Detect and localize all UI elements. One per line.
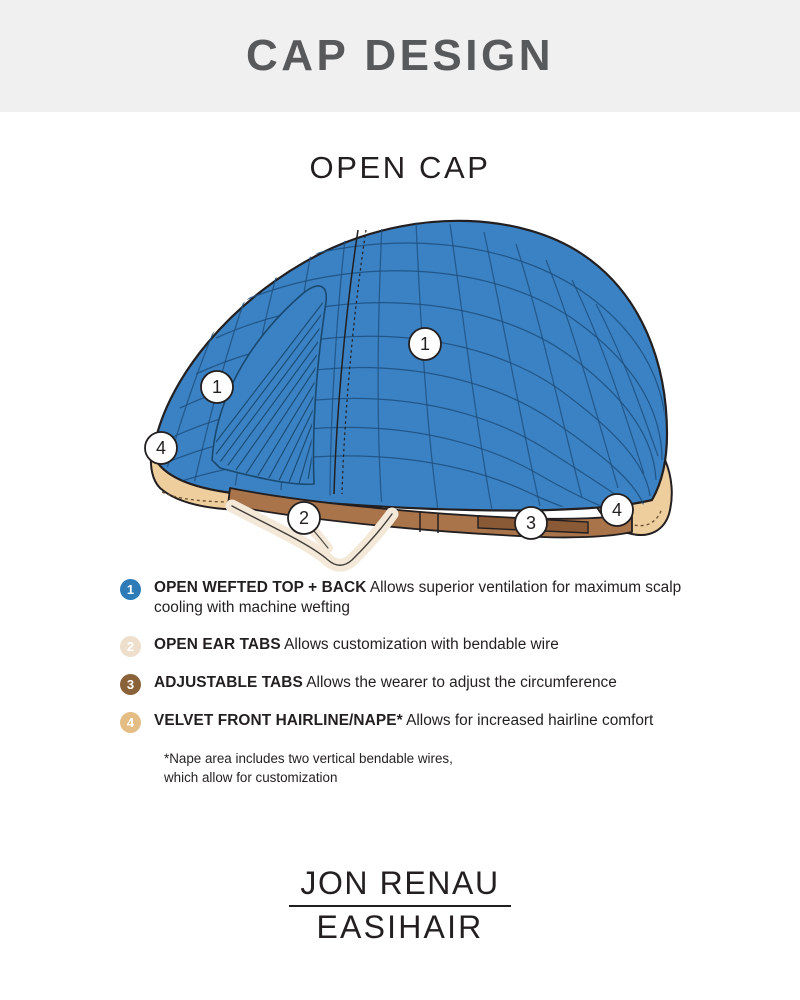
open-cap-illustration: 1 1 4 2 3 4: [120, 192, 680, 572]
legend-title-4: VELVET FRONT HAIRLINE/NAPE*: [154, 712, 403, 729]
page-header: CAP DESIGN: [0, 0, 800, 112]
legend-item-1: 1 OPEN WEFTED TOP + BACK Allows superior…: [120, 578, 800, 619]
svg-text:1: 1: [212, 377, 222, 397]
legend-list: 1 OPEN WEFTED TOP + BACK Allows superior…: [0, 578, 800, 788]
legend-text-2: OPEN EAR TABS Allows customization with …: [154, 635, 559, 655]
legend-title-1: OPEN WEFTED TOP + BACK: [154, 579, 366, 596]
legend-footnote: *Nape area includes two vertical bendabl…: [164, 749, 800, 788]
cap-diagram-container: 1 1 4 2 3 4: [0, 192, 800, 572]
legend-desc-4: Allows for increased hairline comfort: [406, 712, 653, 729]
brand-name-secondary: EASIHAIR: [317, 910, 484, 946]
legend-badge-1: 1: [120, 579, 141, 600]
callout-1-crown: 1: [409, 328, 441, 360]
legend-item-2: 2 OPEN EAR TABS Allows customization wit…: [120, 635, 800, 657]
legend-desc-3: Allows the wearer to adjust the circumfe…: [306, 674, 617, 691]
svg-text:4: 4: [612, 500, 622, 520]
svg-text:4: 4: [156, 438, 166, 458]
callout-4-nape: 4: [601, 494, 633, 526]
legend-item-3: 3 ADJUSTABLE TABS Allows the wearer to a…: [120, 673, 800, 695]
cap-dome-shape: [153, 221, 667, 522]
legend-title-3: ADJUSTABLE TABS: [154, 674, 303, 691]
callout-1-left-weft: 1: [201, 371, 233, 403]
legend-text-3: ADJUSTABLE TABS Allows the wearer to adj…: [154, 673, 617, 693]
legend-badge-3: 3: [120, 674, 141, 695]
legend-text-1: OPEN WEFTED TOP + BACK Allows superior v…: [154, 578, 714, 619]
brand-footer: JON RENAU EASIHAIR: [0, 866, 800, 946]
legend-text-4: VELVET FRONT HAIRLINE/NAPE* Allows for i…: [154, 711, 653, 731]
callout-3-adjustable-tab: 3: [515, 507, 547, 539]
svg-text:3: 3: [526, 513, 536, 533]
section-subtitle: OPEN CAP: [0, 150, 800, 186]
callout-4-front-hairline: 4: [145, 432, 177, 464]
section-header: OPEN CAP: [0, 150, 800, 186]
legend-title-2: OPEN EAR TABS: [154, 636, 281, 653]
callout-2-ear-tab: 2: [288, 502, 320, 534]
svg-text:1: 1: [420, 334, 430, 354]
svg-text:2: 2: [299, 508, 309, 528]
brand-divider: [289, 905, 511, 907]
legend-item-4: 4 VELVET FRONT HAIRLINE/NAPE* Allows for…: [120, 711, 800, 733]
page-title: CAP DESIGN: [246, 31, 554, 81]
brand-name-primary: JON RENAU: [300, 866, 499, 902]
legend-badge-4: 4: [120, 712, 141, 733]
legend-desc-2: Allows customization with bendable wire: [284, 636, 559, 653]
legend-badge-2: 2: [120, 636, 141, 657]
